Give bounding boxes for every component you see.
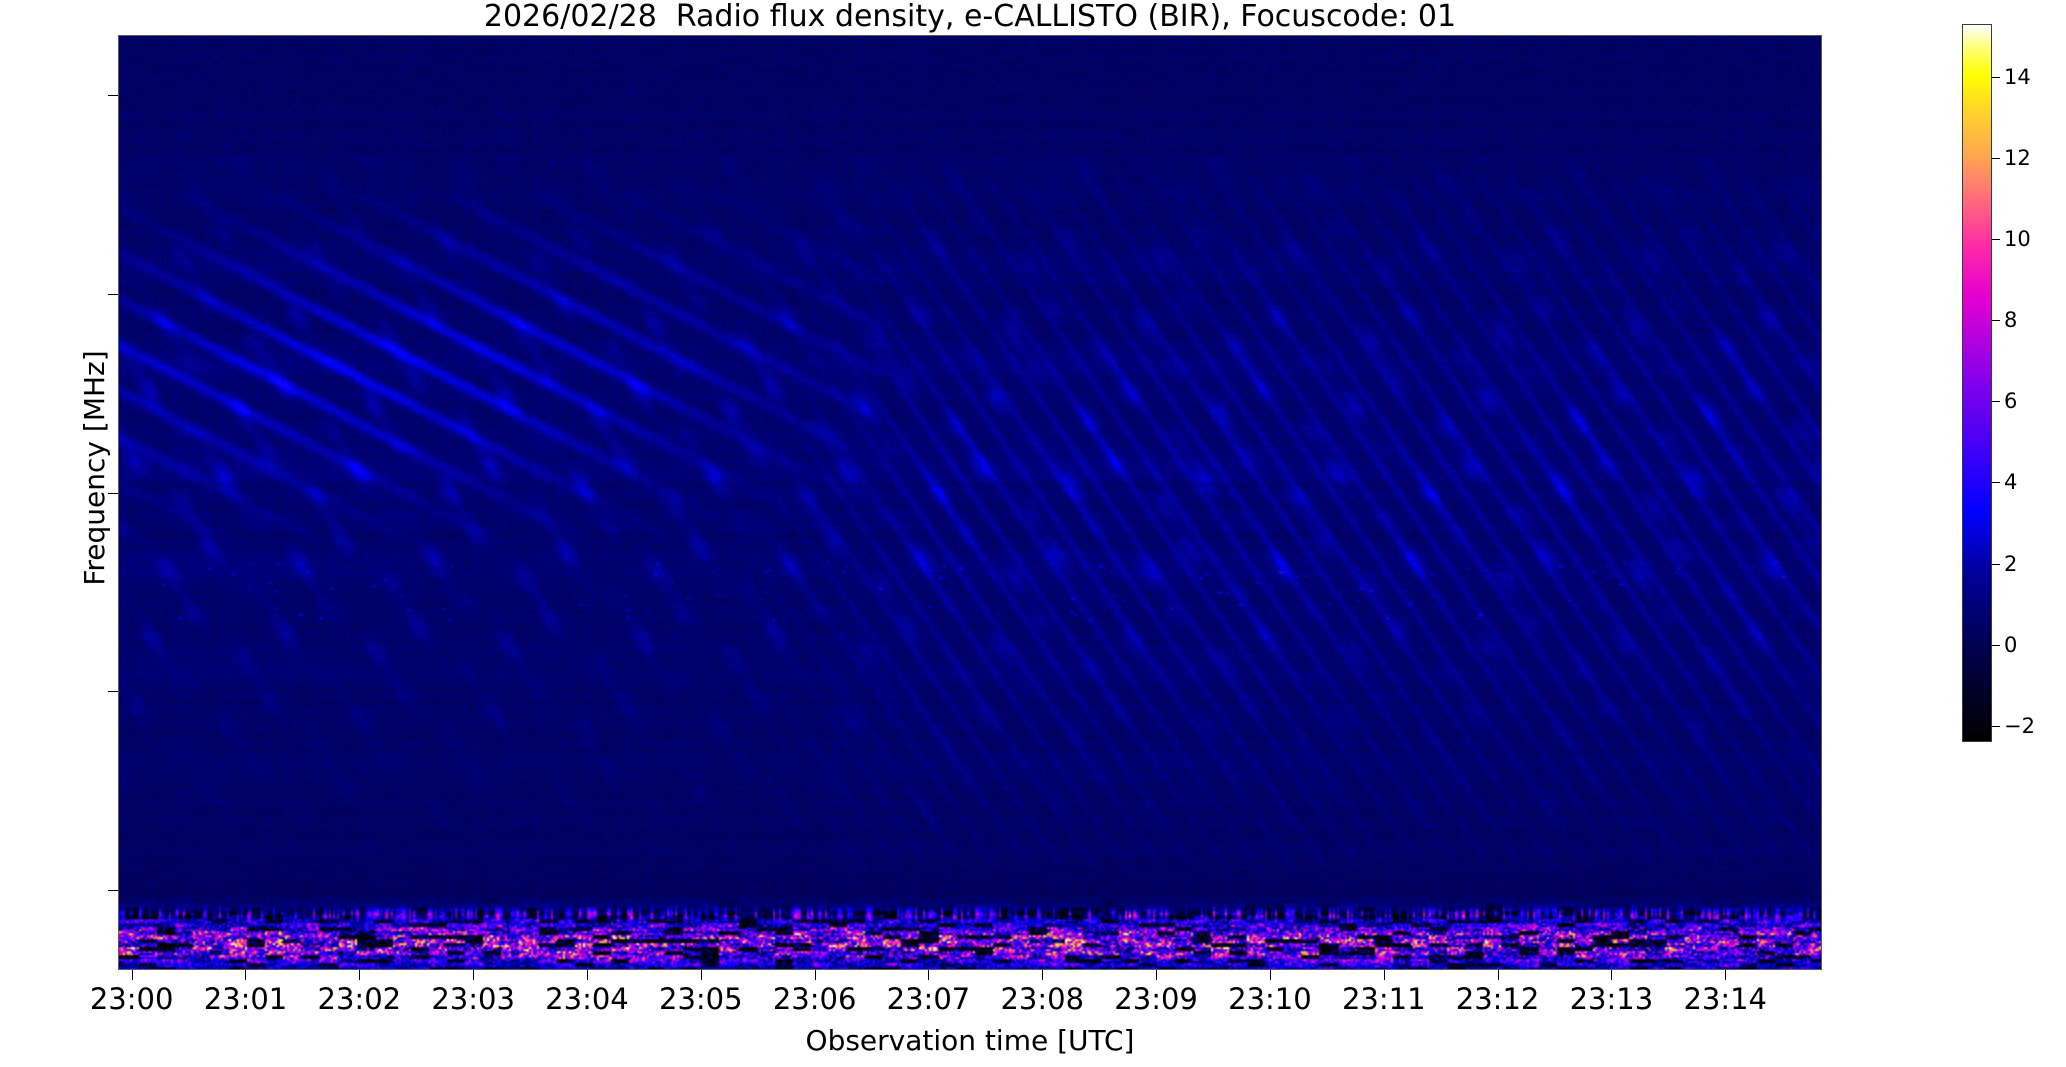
page-title: 2026/02/28 Radio flux density, e-CALLIST… [118, 0, 1822, 34]
x-tick-mark [815, 970, 816, 980]
y-tick-mark [108, 95, 118, 96]
colorbar-tick-label: 12 [2004, 146, 2031, 170]
colorbar-tick-label: 10 [2004, 227, 2031, 251]
y-tick-mark [108, 890, 118, 891]
x-tick-mark [1498, 970, 1499, 980]
x-tick-mark [1611, 970, 1612, 980]
x-tick-mark [587, 970, 588, 980]
colorbar-tick-label: 2 [2004, 552, 2017, 576]
colorbar [1962, 24, 1992, 742]
colorbar-tick-mark [1992, 645, 2000, 646]
x-tick-mark [1725, 970, 1726, 980]
colorbar-tick-label: 4 [2004, 470, 2017, 494]
x-tick-mark [1270, 970, 1271, 980]
colorbar-tick-mark [1992, 482, 2000, 483]
x-tick-mark [245, 970, 246, 980]
y-tick-mark [108, 294, 118, 295]
x-tick-label: 23:14 [1645, 982, 1805, 1016]
x-tick-mark [701, 970, 702, 980]
colorbar-tick-mark [1992, 77, 2000, 78]
colorbar-tick-mark [1992, 564, 2000, 565]
y-tick-mark [108, 691, 118, 692]
colorbar-tick-label: 0 [2004, 633, 2017, 657]
figure-canvas: 2026/02/28 Radio flux density, e-CALLIST… [0, 0, 2066, 1067]
colorbar-tick-label: −2 [2004, 714, 2035, 738]
y-tick-mark [108, 493, 118, 494]
spectrogram-axes [118, 35, 1822, 970]
colorbar-tick-mark [1992, 726, 2000, 727]
colorbar-tick-mark [1992, 401, 2000, 402]
x-tick-mark [473, 970, 474, 980]
x-tick-mark [1384, 970, 1385, 980]
x-tick-mark [1156, 970, 1157, 980]
colorbar-tick-mark [1992, 320, 2000, 321]
x-tick-mark [928, 970, 929, 980]
colorbar-tick-label: 8 [2004, 308, 2017, 332]
colorbar-tick-label: 6 [2004, 389, 2017, 413]
colorbar-tick-mark [1992, 158, 2000, 159]
x-axis-label: Observation time [UTC] [118, 1024, 1822, 1057]
colorbar-tick-label: 14 [2004, 65, 2031, 89]
x-tick-mark [1042, 970, 1043, 980]
x-tick-mark [359, 970, 360, 980]
colorbar-tick-mark [1992, 239, 2000, 240]
spectrogram-image [119, 36, 1821, 969]
y-axis-label: Frequency [MHz] [78, 18, 111, 918]
x-tick-mark [132, 970, 133, 980]
